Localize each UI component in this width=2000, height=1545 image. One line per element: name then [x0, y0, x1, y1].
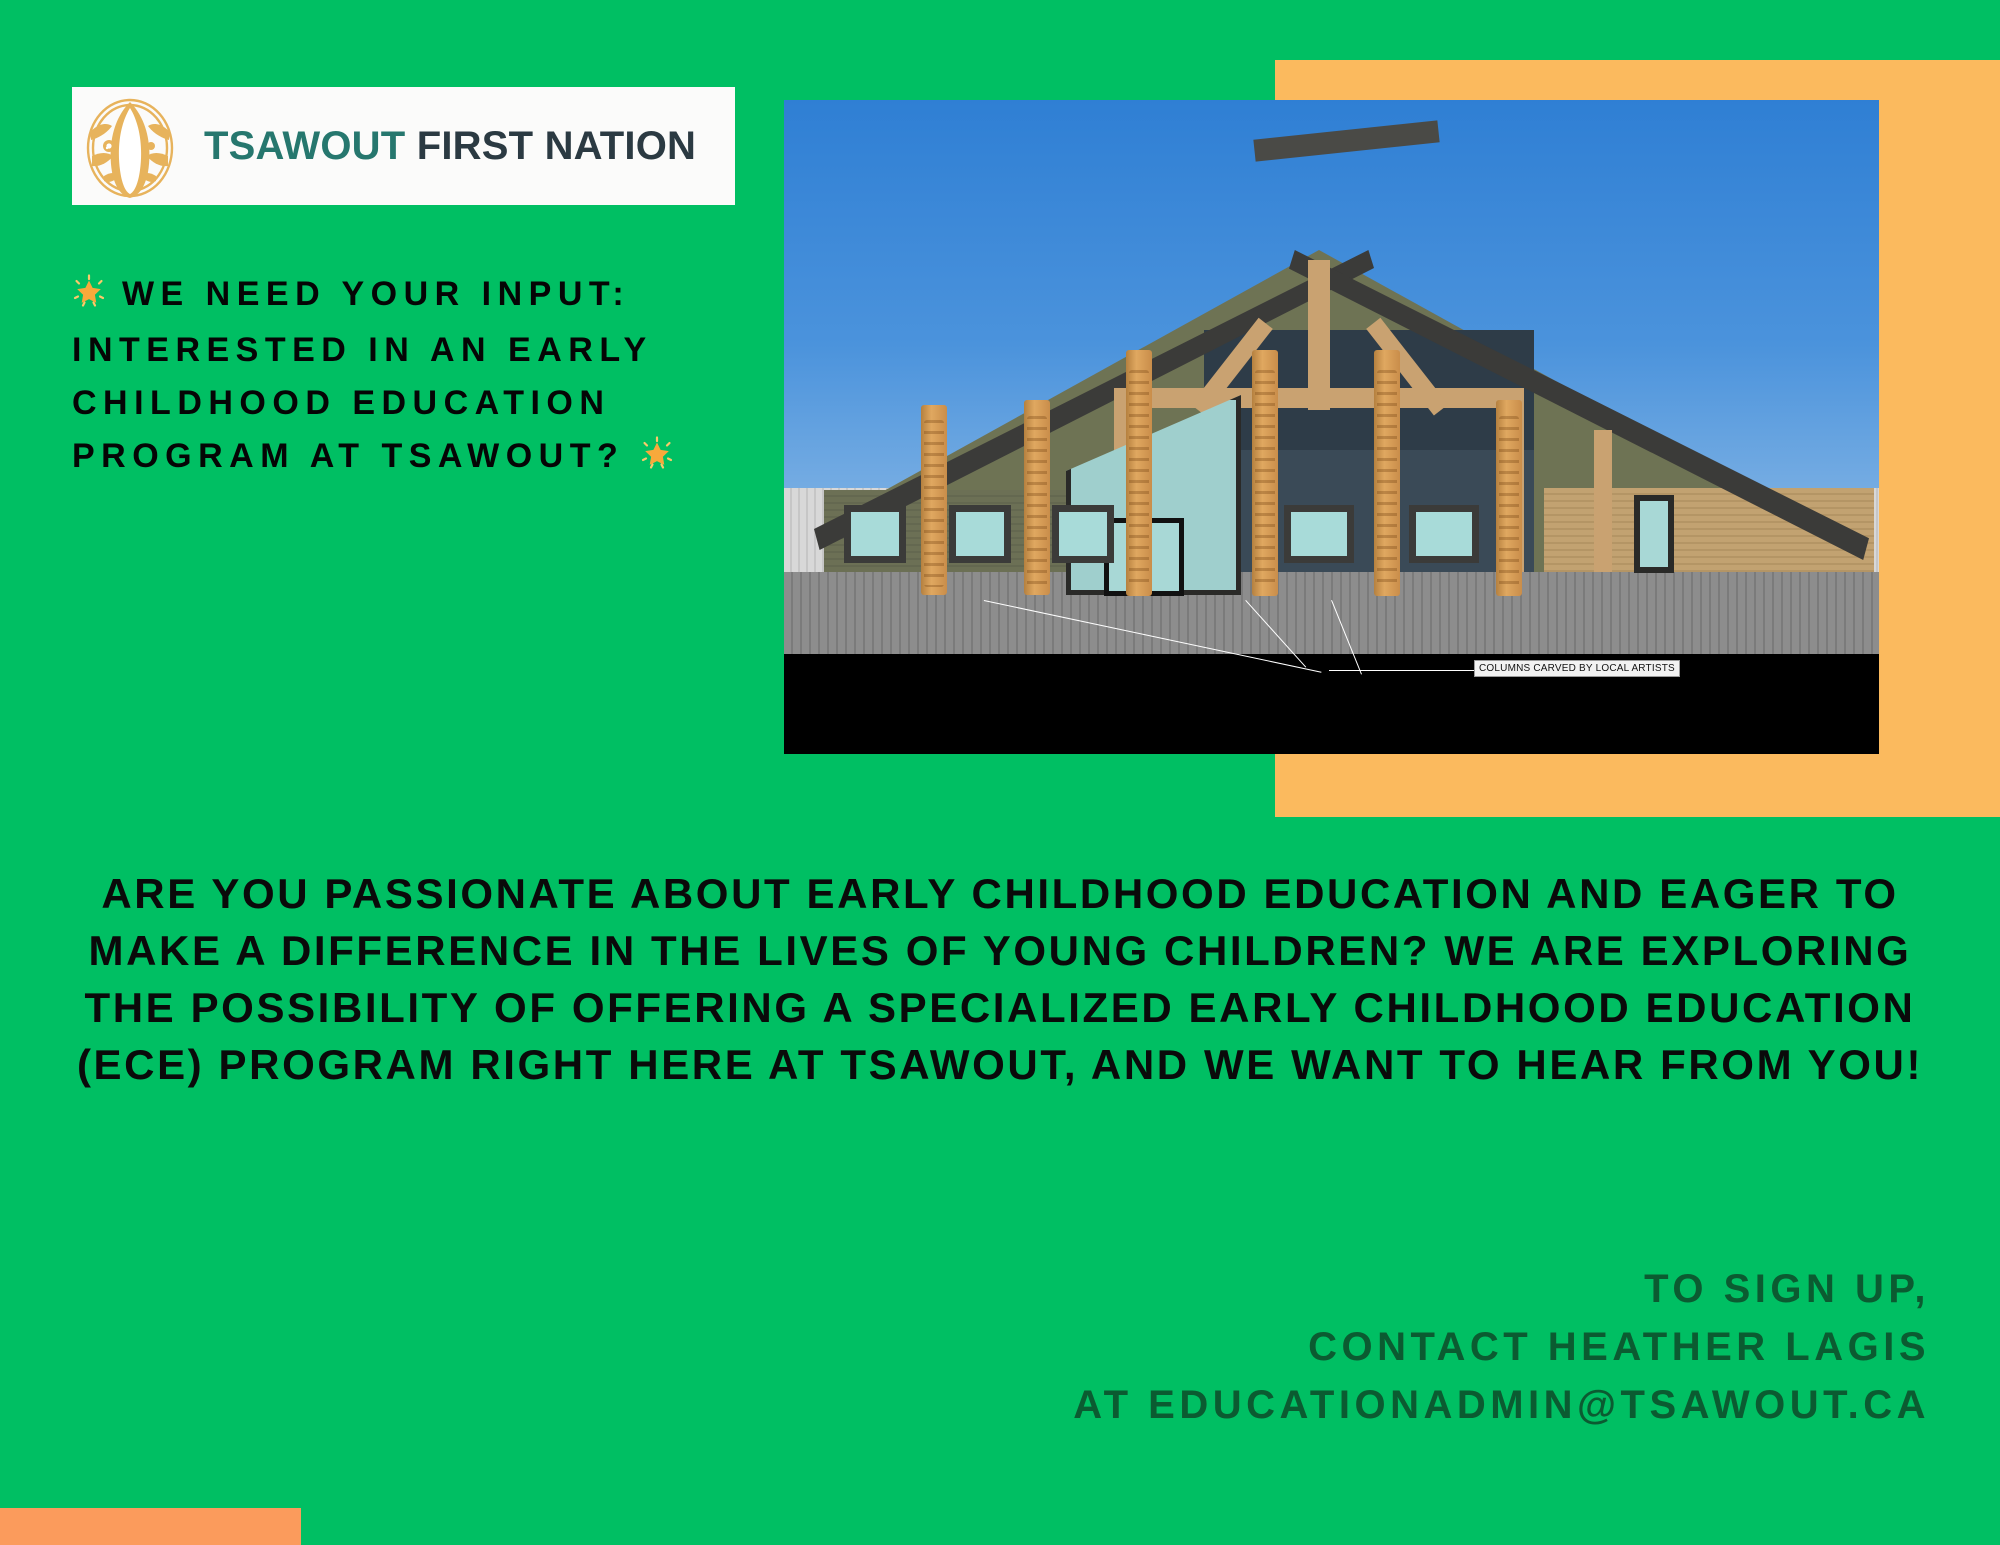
rendering-black-band [784, 654, 1879, 754]
truss-tie-beam [1114, 388, 1524, 408]
window-6-side-door [1634, 495, 1674, 573]
contact-line-email[interactable]: AT EDUCATIONADMIN@TSAWOUT.CA [830, 1376, 1930, 1434]
window-3 [1052, 505, 1114, 563]
orange-accent-bar [0, 1508, 301, 1545]
carved-column-5 [1374, 350, 1400, 596]
glowing-star-icon-trailing [640, 433, 674, 486]
foundation-band [784, 572, 1879, 654]
contact-block: TO SIGN UP, CONTACT HEATHER LAGIS AT EDU… [830, 1260, 1930, 1434]
carved-column-4 [1252, 350, 1278, 596]
tsawout-whale-medallion-icon [82, 90, 178, 202]
logo-wordmark: TSAWOUT FIRST NATION [204, 124, 696, 169]
truss-outrigger-right [1594, 430, 1612, 590]
building-rendering-image: COLUMNS CARVED BY LOCAL ARTISTS [784, 100, 1879, 754]
carved-column-3 [1126, 350, 1152, 596]
rendering-caption: COLUMNS CARVED BY LOCAL ARTISTS [1474, 660, 1680, 677]
window-4 [1284, 505, 1354, 563]
logo-container: TSAWOUT FIRST NATION [72, 87, 735, 205]
carved-column-1 [921, 405, 947, 595]
logo-word-tsawout: TSAWOUT [204, 124, 405, 168]
body-copy: ARE YOU PASSIONATE ABOUT EARLY CHILDHOOD… [40, 865, 1960, 1093]
glowing-star-icon-leading [72, 271, 106, 324]
headline-text: WE NEED YOUR INPUT: INTERESTED IN AN EAR… [72, 275, 652, 475]
leader-line-4 [1329, 670, 1475, 671]
logo-word-first-nation: FIRST NATION [417, 124, 696, 168]
carved-column-2 [1024, 400, 1050, 595]
contact-line-sign-up: TO SIGN UP, [830, 1260, 1930, 1318]
window-1 [844, 505, 906, 563]
headline: WE NEED YOUR INPUT: INTERESTED IN AN EAR… [72, 268, 772, 486]
contact-line-person: CONTACT HEATHER LAGIS [830, 1318, 1930, 1376]
window-2 [949, 505, 1011, 563]
carved-column-6 [1496, 400, 1522, 596]
window-5 [1409, 505, 1479, 563]
